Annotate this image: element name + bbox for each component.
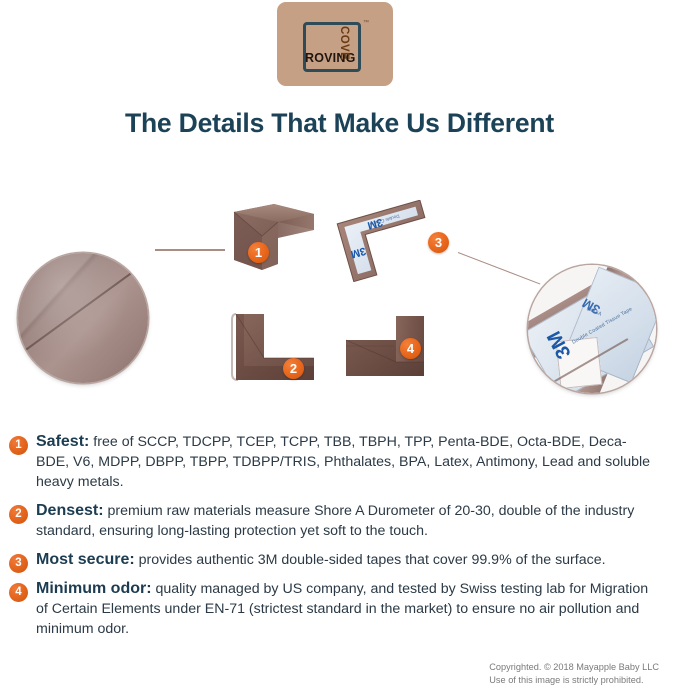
- feature-number-badge-1: 1: [9, 436, 28, 455]
- feature-lead-1: Safest:: [36, 433, 89, 450]
- feature-list: 1 Safest: free of SCCP, TDCPP, TCEP, TCP…: [0, 432, 679, 648]
- foam-highlight: [18, 253, 148, 383]
- brand-logo: ROVING COVE ™: [277, 2, 393, 86]
- feature-lead-3: Most secure:: [36, 551, 135, 568]
- corner-guard-2: [220, 308, 320, 386]
- feature-body-3: provides authentic 3M double-sided tapes…: [135, 552, 606, 568]
- feature-text-1: Safest: free of SCCP, TDCPP, TCEP, TCPP,…: [36, 432, 657, 492]
- feature-number-badge-4: 4: [9, 583, 28, 602]
- callout-badge-3: 3: [428, 232, 449, 253]
- copyright-line-1: Copyrighted. © 2018 Mayapple Baby LLC: [489, 661, 659, 674]
- feature-text-4: Minimum odor: quality managed by US comp…: [36, 579, 657, 639]
- feature-item-3: 3 Most secure: provides authentic 3M dou…: [0, 550, 679, 570]
- logo-trademark-symbol: ™: [363, 20, 369, 26]
- callout-badge-4: 4: [400, 338, 421, 359]
- infographic-page: ROVING COVE ™ The Details That Make Us D…: [0, 0, 679, 694]
- callout-badge-2: 2: [283, 358, 304, 379]
- feature-lead-4: Minimum odor:: [36, 580, 152, 597]
- feature-body-1: free of SCCP, TDCPP, TCEP, TCPP, TBB, TB…: [36, 434, 650, 490]
- feature-item-1: 1 Safest: free of SCCP, TDCPP, TCEP, TCP…: [0, 432, 679, 492]
- feature-lead-2: Densest:: [36, 502, 104, 519]
- tape-closeup-scene: 3M 3M Double Coated Tissue Tape 9448A: [528, 265, 656, 393]
- tape-closeup-circle: 3M 3M Double Coated Tissue Tape 9448A: [528, 265, 656, 393]
- feature-body-2: premium raw materials measure Shore A Du…: [36, 503, 634, 539]
- corner-guard-4: [338, 312, 438, 386]
- product-illustration-area: 1 2: [0, 180, 679, 410]
- feature-text-3: Most secure: provides authentic 3M doubl…: [36, 550, 657, 570]
- callout-badge-1: 1: [248, 242, 269, 263]
- copyright-notice: Copyrighted. © 2018 Mayapple Baby LLC Us…: [489, 661, 659, 686]
- feature-text-2: Densest: premium raw materials measure S…: [36, 501, 657, 541]
- connector-line-left: [155, 249, 225, 251]
- feature-item-2: 2 Densest: premium raw materials measure…: [0, 501, 679, 541]
- feature-number-badge-3: 3: [9, 554, 28, 573]
- foam-material-closeup-circle: [18, 253, 148, 383]
- copyright-line-2: Use of this image is strictly prohibited…: [489, 674, 659, 687]
- corner-guard-1: [222, 198, 320, 276]
- feature-number-badge-2: 2: [9, 505, 28, 524]
- feature-item-4: 4 Minimum odor: quality managed by US co…: [0, 579, 679, 639]
- page-title: The Details That Make Us Different: [0, 108, 679, 139]
- logo-text-cove: COVE: [338, 26, 350, 60]
